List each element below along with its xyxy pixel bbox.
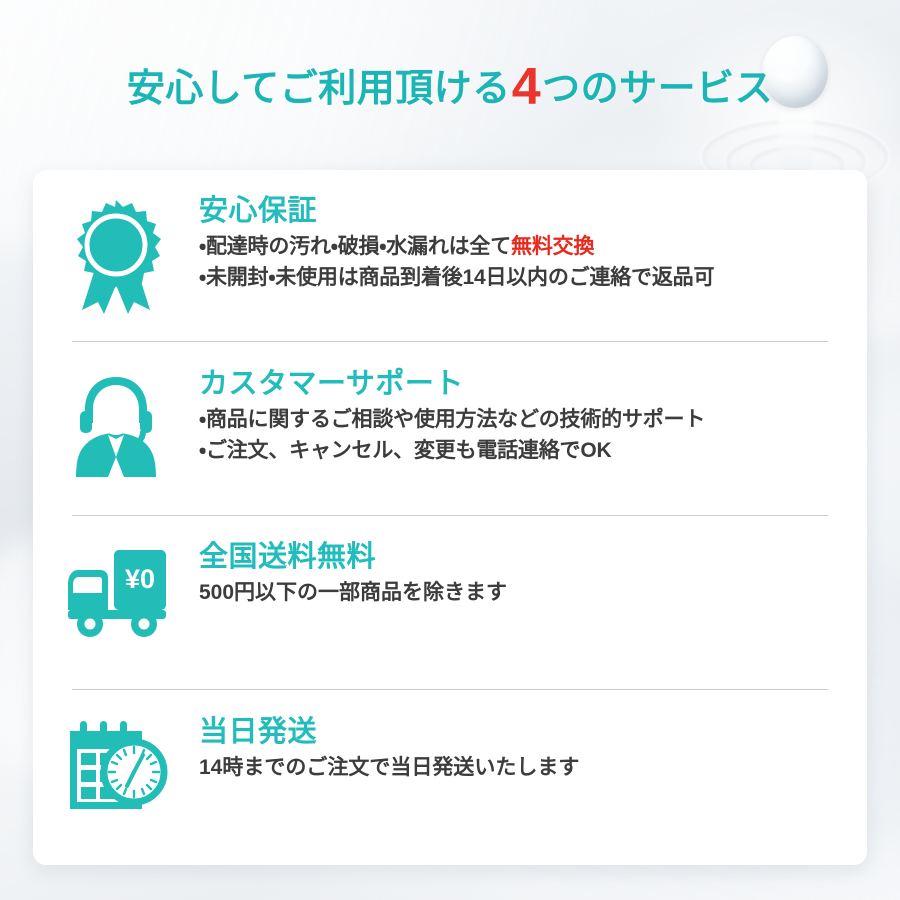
delivery-truck-icon: ¥0 xyxy=(60,544,172,640)
promo-banner: 安心してご利用頂ける4つのサービス xyxy=(0,0,900,900)
bullet: ・ xyxy=(199,235,206,258)
headset-operator-icon xyxy=(66,371,166,481)
bullet: ・ xyxy=(199,439,206,462)
service-line-text: 配達時の汚れ・破損・水漏れは全て xyxy=(206,235,511,258)
service-line-highlight: 無料交換 xyxy=(511,235,594,258)
page-title: 安心してご利用頂ける4つのサービス xyxy=(0,57,900,112)
service-line-text: 商品に関するご相談や使用方法などの技術的サポート xyxy=(206,408,705,431)
service-row-customer-support: カスタマーサポート ・商品に関するご相談や使用方法などの技術的サポート ・ご注文… xyxy=(33,367,867,515)
truck-price-label: ¥0 xyxy=(125,564,155,594)
service-heading: カスタマーサポート xyxy=(199,367,837,401)
calendar-clock-icon xyxy=(62,719,170,819)
award-ribbon-icon xyxy=(64,198,168,316)
service-line-text: 14時までのご注文で当日発送いたします xyxy=(199,756,579,779)
service-line-text: 500円以下の一部商品を除きます xyxy=(199,581,507,604)
service-row-guarantee: 安心保証 ・配達時の汚れ・破損・水漏れは全て無料交換 ・未開封・未使用は商品到着… xyxy=(33,194,867,342)
service-text-cell: 当日発送 14時までのご注文で当日発送いたします xyxy=(199,715,867,784)
service-icon-cell: ¥0 xyxy=(33,540,199,640)
bullet: ・ xyxy=(199,408,206,431)
service-line: 14時までのご注文で当日発送いたします xyxy=(199,753,837,784)
service-text-cell: カスタマーサポート ・商品に関するご相談や使用方法などの技術的サポート ・ご注文… xyxy=(199,367,867,467)
service-line: 500円以下の一部商品を除きます xyxy=(199,578,837,609)
service-line: ・ご注文、キャンセル、変更も電話連絡でOK xyxy=(199,436,837,467)
bullet: ・ xyxy=(199,266,206,289)
row-divider xyxy=(72,341,828,342)
page-title-prefix: 安心してご利用頂ける xyxy=(127,68,511,110)
service-text-cell: 安心保証 ・配達時の汚れ・破損・水漏れは全て無料交換 ・未開封・未使用は商品到着… xyxy=(199,194,867,294)
service-text-cell: 全国送料無料 500円以下の一部商品を除きます xyxy=(199,540,867,609)
service-line: ・商品に関するご相談や使用方法などの技術的サポート xyxy=(199,405,837,436)
page-title-suffix: つのサービス xyxy=(542,68,773,110)
service-icon-cell xyxy=(33,715,199,819)
row-divider xyxy=(72,689,828,690)
service-line: ・配達時の汚れ・破損・水漏れは全て無料交換 xyxy=(199,232,837,263)
page-title-number: 4 xyxy=(512,58,541,116)
services-list: 安心保証 ・配達時の汚れ・破損・水漏れは全て無料交換 ・未開封・未使用は商品到着… xyxy=(33,170,867,865)
service-heading: 当日発送 xyxy=(199,715,837,749)
service-heading: 全国送料無料 xyxy=(199,540,837,574)
row-divider xyxy=(72,515,828,516)
service-line: ・未開封・未使用は商品到着後14日以内のご連絡で返品可 xyxy=(199,263,837,294)
service-line-text: ご注文、キャンセル、変更も電話連絡でOK xyxy=(206,439,612,462)
service-row-free-shipping: ¥0 全国送料無料 500円以下の一部商品を除きます xyxy=(33,540,867,670)
service-icon-cell xyxy=(33,194,199,316)
services-card: 安心保証 ・配達時の汚れ・破損・水漏れは全て無料交換 ・未開封・未使用は商品到着… xyxy=(33,170,867,865)
service-line-text: 未開封・未使用は商品到着後14日以内のご連絡で返品可 xyxy=(206,266,714,289)
service-heading: 安心保証 xyxy=(199,194,837,228)
service-icon-cell xyxy=(33,367,199,481)
service-row-same-day-shipping: 当日発送 14時までのご注文で当日発送いたします xyxy=(33,715,867,845)
